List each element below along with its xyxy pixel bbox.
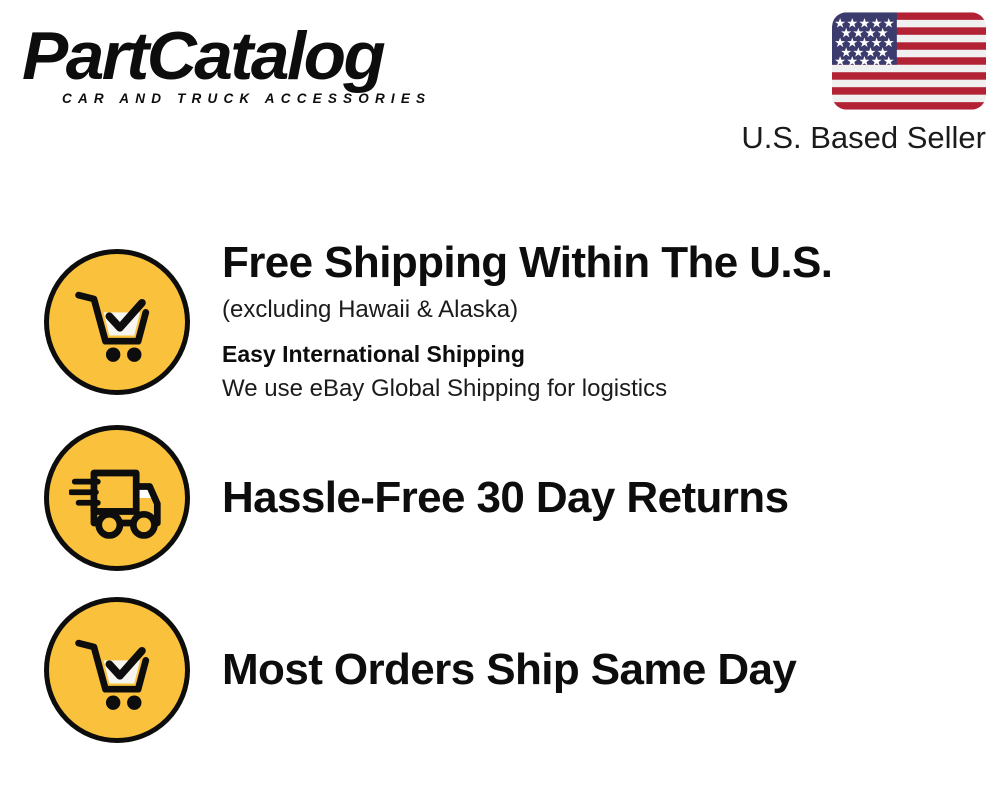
us-based-seller-block: U.S. Based Seller	[718, 12, 986, 155]
us-flag-icon	[832, 12, 986, 110]
feature-subtext-exclusions: (excluding Hawaii & Alaska)	[222, 294, 960, 326]
brand-logo: PartCatalog CAR AND TRUCK ACCESSORIES	[22, 24, 492, 106]
brand-wordmark: PartCatalog	[22, 24, 501, 89]
feature-heading: Hassle-Free 30 Day Returns	[222, 475, 960, 522]
feature-list: Free Shipping Within The U.S. (excluding…	[0, 232, 1000, 756]
delivery-truck-icon	[44, 425, 190, 571]
feature-subtext-international-note: We use eBay Global Shipping for logistic…	[222, 373, 960, 404]
feature-heading: Most Orders Ship Same Day	[222, 647, 960, 694]
feature-row-returns: Hassle-Free 30 Day Returns	[0, 412, 1000, 584]
shopping-cart-check-icon	[44, 597, 190, 743]
shipping-info-banner: PartCatalog CAR AND TRUCK ACCESSORIES	[0, 0, 1000, 800]
feature-text-same-day-shipping: Most Orders Ship Same Day	[222, 647, 1000, 694]
feature-row-same-day-shipping: Most Orders Ship Same Day	[0, 584, 1000, 756]
feature-text-returns: Hassle-Free 30 Day Returns	[222, 475, 1000, 522]
shopping-cart-check-icon	[44, 249, 190, 395]
feature-heading: Free Shipping Within The U.S.	[222, 240, 960, 287]
feature-subtext-international-heading: Easy International Shipping	[222, 340, 960, 370]
feature-text-free-shipping: Free Shipping Within The U.S. (excluding…	[222, 240, 1000, 404]
feature-row-free-shipping: Free Shipping Within The U.S. (excluding…	[0, 232, 1000, 412]
us-based-seller-label: U.S. Based Seller	[718, 121, 986, 155]
